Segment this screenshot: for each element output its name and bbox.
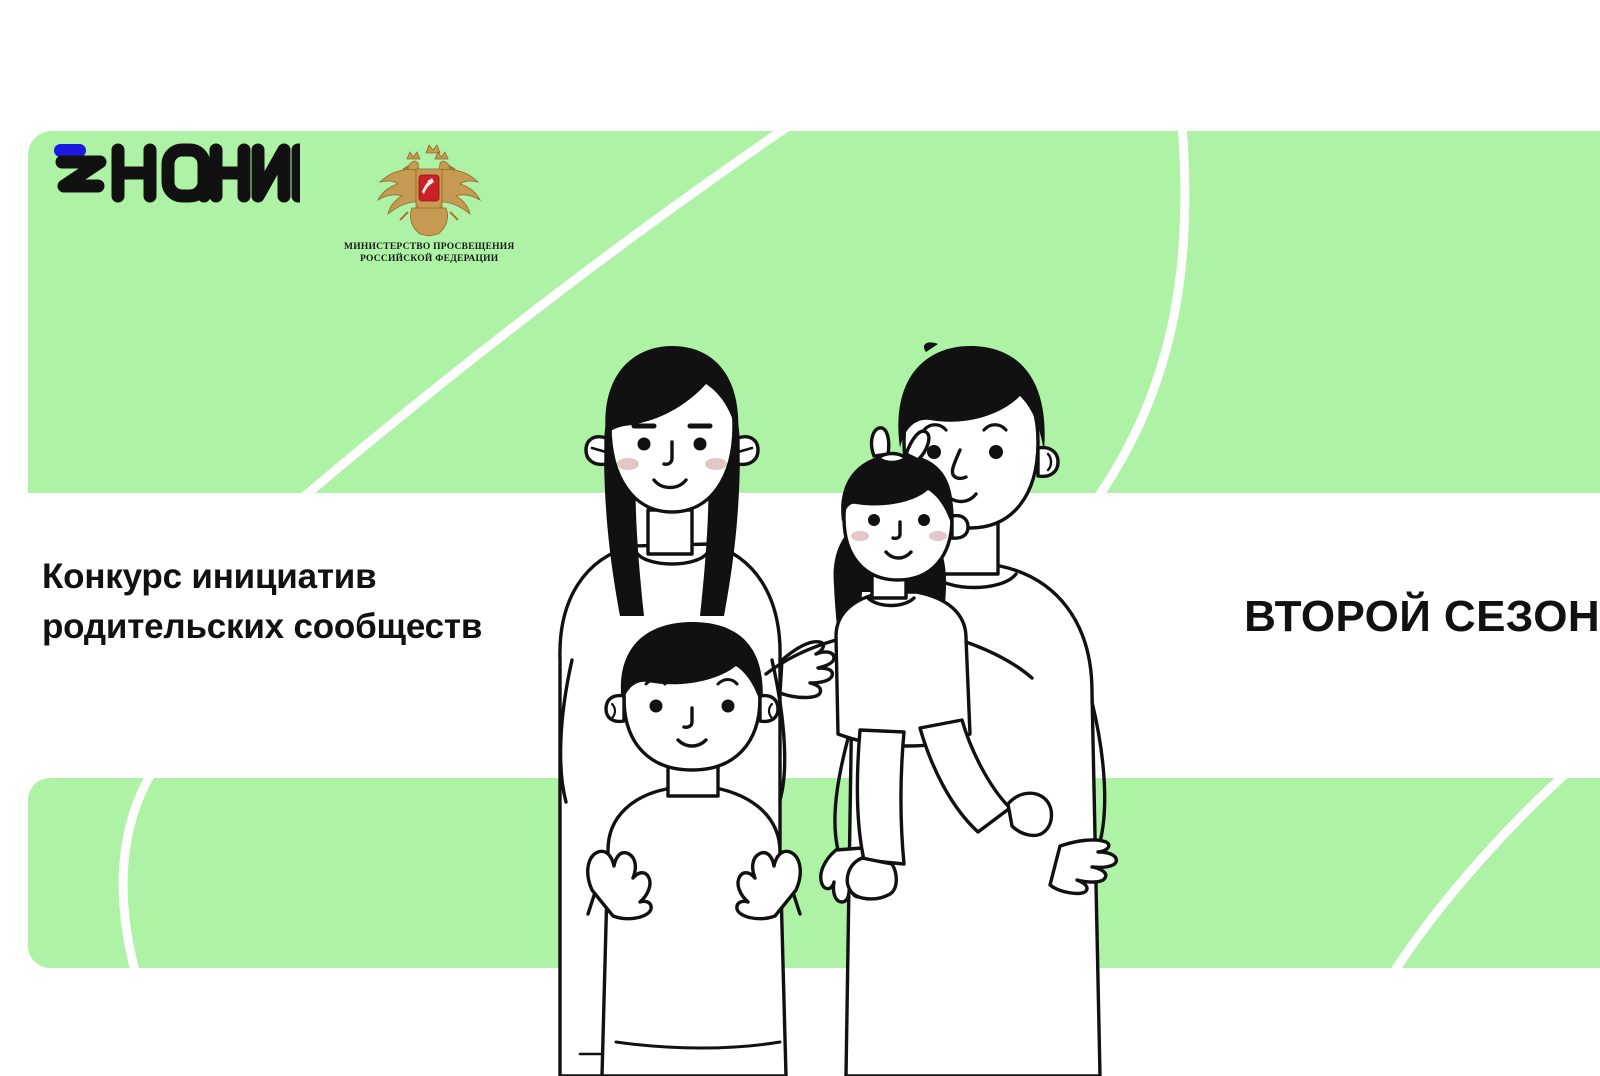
logo-letter-z bbox=[62, 162, 100, 186]
logo-letter-n bbox=[118, 150, 150, 196]
daughter-bow-left bbox=[872, 428, 889, 456]
logo-letter-n2 bbox=[216, 150, 244, 196]
eagle-shield bbox=[419, 175, 439, 201]
family-illustration bbox=[500, 330, 1180, 1076]
logo-row: МИНИСТЕРСТВО ПРОСВЕЩЕНИЯ РОССИЙСКОЙ ФЕДЕ… bbox=[52, 140, 514, 265]
logo-letter-e bbox=[298, 150, 300, 196]
daughter-bow-knot bbox=[878, 454, 906, 463]
ministry-name-text: МИНИСТЕРСТВО ПРОСВЕЩЕНИЯ РОССИЙСКОЙ ФЕДЕ… bbox=[344, 241, 514, 265]
logo-letter-i bbox=[258, 150, 284, 196]
poster-canvas: МИНИСТЕРСТВО ПРОСВЕЩЕНИЯ РОССИЙСКОЙ ФЕДЕ… bbox=[0, 0, 1600, 1076]
ministry-logo-block: МИНИСТЕРСТВО ПРОСВЕЩЕНИЯ РОССИЙСКОЙ ФЕДЕ… bbox=[344, 140, 514, 265]
logo-letter-a bbox=[168, 150, 204, 196]
znanie-wordmark-logo[interactable] bbox=[52, 140, 300, 204]
logo-accent-bar bbox=[54, 144, 86, 157]
season-label: ВТОРОЙ СЕЗОН bbox=[1244, 592, 1600, 642]
double-headed-eagle-icon bbox=[366, 142, 492, 238]
father-hand-right bbox=[1050, 840, 1116, 894]
